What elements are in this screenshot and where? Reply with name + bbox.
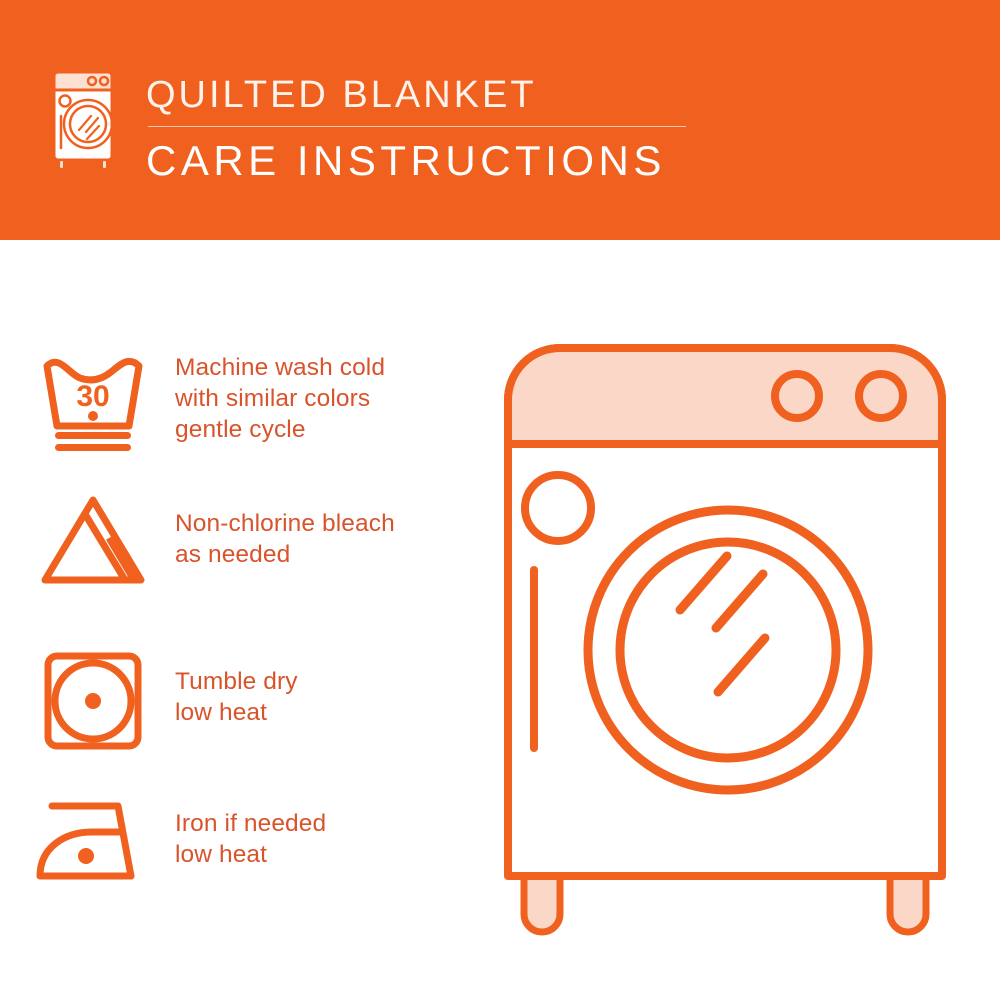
care-line: gentle cycle bbox=[175, 414, 385, 445]
machine-wash-cold-icon: 30 bbox=[0, 348, 175, 458]
care-line: Iron if needed bbox=[175, 808, 326, 839]
tumble-dry-low-icon bbox=[0, 646, 175, 756]
care-item-tumble-dry: Tumble dry low heat bbox=[0, 646, 480, 756]
washing-machine-logo-icon bbox=[44, 68, 122, 172]
care-text-tumble-dry: Tumble dry low heat bbox=[175, 646, 298, 728]
iron-low-heat-icon bbox=[0, 792, 175, 887]
care-item-machine-wash: 30 Machine wash cold with similar colors… bbox=[0, 348, 480, 458]
washing-machine-illustration bbox=[490, 330, 980, 950]
non-chlorine-bleach-icon bbox=[0, 490, 175, 590]
care-text-iron: Iron if needed low heat bbox=[175, 792, 326, 870]
machine-control-panel bbox=[508, 348, 942, 444]
care-line: Non-chlorine bleach bbox=[175, 508, 395, 539]
page-header: QUILTED BLANKET CARE INSTRUCTIONS bbox=[0, 0, 1000, 240]
page-title-line2: CARE INSTRUCTIONS bbox=[146, 137, 706, 185]
care-item-iron: Iron if needed low heat bbox=[0, 792, 480, 887]
care-text-machine-wash: Machine wash cold with similar colors ge… bbox=[175, 348, 385, 445]
care-line: low heat bbox=[175, 839, 326, 870]
care-line: with similar colors bbox=[175, 383, 385, 414]
care-text-bleach: Non-chlorine bleach as needed bbox=[175, 490, 395, 570]
title-divider bbox=[148, 126, 686, 127]
care-line: as needed bbox=[175, 539, 395, 570]
page-title-line1: QUILTED BLANKET bbox=[146, 72, 706, 118]
wash-temperature-label: 30 bbox=[76, 380, 109, 413]
care-line: Machine wash cold bbox=[175, 352, 385, 383]
care-instructions-page: QUILTED BLANKET CARE INSTRUCTIONS 30 bbox=[0, 0, 1000, 1000]
care-item-bleach: Non-chlorine bleach as needed bbox=[0, 490, 480, 590]
care-line: Tumble dry bbox=[175, 666, 298, 697]
care-line: low heat bbox=[175, 697, 298, 728]
header-title-block: QUILTED BLANKET CARE INSTRUCTIONS bbox=[146, 72, 706, 185]
